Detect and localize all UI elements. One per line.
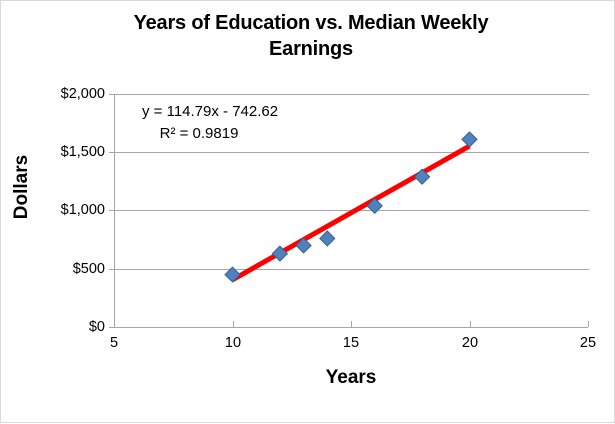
scatter-markers bbox=[225, 132, 477, 282]
trendline-path bbox=[233, 146, 470, 280]
data-series-layer bbox=[1, 1, 615, 424]
scatter-marker bbox=[462, 132, 477, 147]
chart-container: Years of Education vs. Median Weekly Ear… bbox=[0, 0, 615, 423]
scatter-marker bbox=[225, 267, 240, 282]
trendline bbox=[233, 146, 470, 280]
scatter-marker bbox=[320, 231, 335, 246]
